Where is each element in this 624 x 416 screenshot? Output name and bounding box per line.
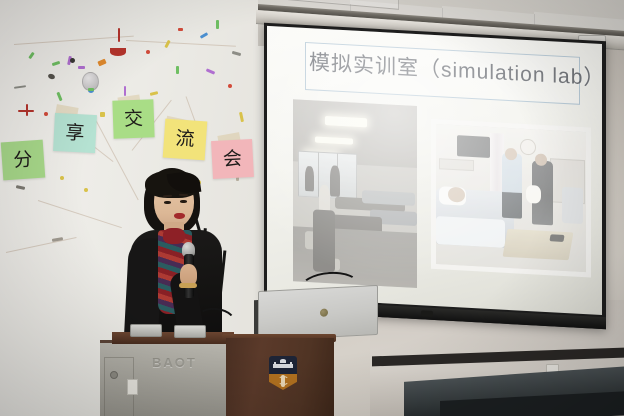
confetti: [100, 112, 105, 117]
confetti: [70, 58, 75, 63]
presenter-lips: [174, 213, 185, 219]
photo-held-object: [526, 185, 541, 204]
sticky-note-char: 分: [13, 150, 33, 170]
presenter-eye: [180, 200, 187, 203]
podium: [226, 338, 334, 416]
confetti: [78, 66, 85, 69]
confetti: [124, 86, 126, 96]
slide-photo-hospital-sim: [431, 119, 591, 278]
sticky-note-jiao: 交: [112, 99, 154, 138]
crest-dome: [280, 359, 286, 362]
confetti: [176, 66, 179, 74]
presentation-photo-scene: 模拟实训室（simulation lab）: [0, 0, 624, 416]
photo-foreground-object: [313, 210, 335, 273]
photo-person: [319, 184, 330, 212]
confetti: [118, 28, 120, 42]
confetti: [60, 176, 64, 180]
photo-person: [330, 165, 340, 196]
podium-device[interactable]: [130, 324, 162, 337]
slide: 模拟实训室（simulation lab）: [279, 37, 588, 295]
sticky-note-fen: 分: [1, 140, 46, 181]
photo-overbed-table: [503, 229, 574, 260]
photo-phone: [549, 234, 564, 242]
presenter-scarf-knot: [163, 228, 185, 244]
crest-upper-field: [269, 356, 297, 374]
confetti: [146, 50, 150, 54]
sticky-note-xiang: 享: [53, 113, 97, 153]
crest-building-icon: [273, 359, 292, 368]
confetti: [228, 84, 232, 88]
cabinet-handle[interactable]: [110, 371, 118, 379]
confetti: [110, 48, 126, 56]
sticky-note-char: 享: [65, 123, 85, 143]
cabinet-logo-text: BAOT: [152, 355, 197, 370]
institution-crest: [269, 356, 297, 390]
sticky-note-char: 流: [175, 129, 195, 149]
photo-person: [305, 165, 314, 191]
photo-equipment: [562, 187, 583, 225]
photo-wall-tv: [457, 135, 490, 158]
confetti: [18, 110, 34, 112]
balloon-knot: [88, 88, 94, 91]
crest-tower: [274, 362, 276, 368]
side-cabinet: BAOT: [100, 340, 228, 416]
photo-standing-person-head: [505, 147, 517, 160]
sticky-note-char: 会: [223, 149, 243, 169]
photo-clock: [520, 138, 536, 155]
sticky-note-char: 交: [124, 109, 144, 129]
slide-photo-classroom-lab: [293, 99, 417, 288]
laptop-logo: [320, 309, 328, 317]
sticky-note-liu: 流: [163, 119, 208, 161]
confetti: [44, 112, 48, 116]
screen-surface: 模拟实训室（simulation lab）: [267, 26, 602, 315]
photo-shelf: [439, 158, 474, 172]
photo-standing-person: [502, 153, 522, 218]
presenter-eye: [164, 201, 171, 204]
presenter-bracelet: [179, 283, 197, 288]
confetti: [216, 20, 219, 29]
photo-patient-head: [448, 186, 465, 202]
photo-blanket: [436, 216, 505, 248]
confetti: [84, 188, 88, 192]
crest-tower: [290, 362, 292, 368]
confetti: [178, 28, 183, 31]
rod-of-asclepius-icon: [281, 375, 284, 387]
cabinet-label: [127, 379, 138, 395]
screen-pull-knob[interactable]: [421, 310, 433, 317]
